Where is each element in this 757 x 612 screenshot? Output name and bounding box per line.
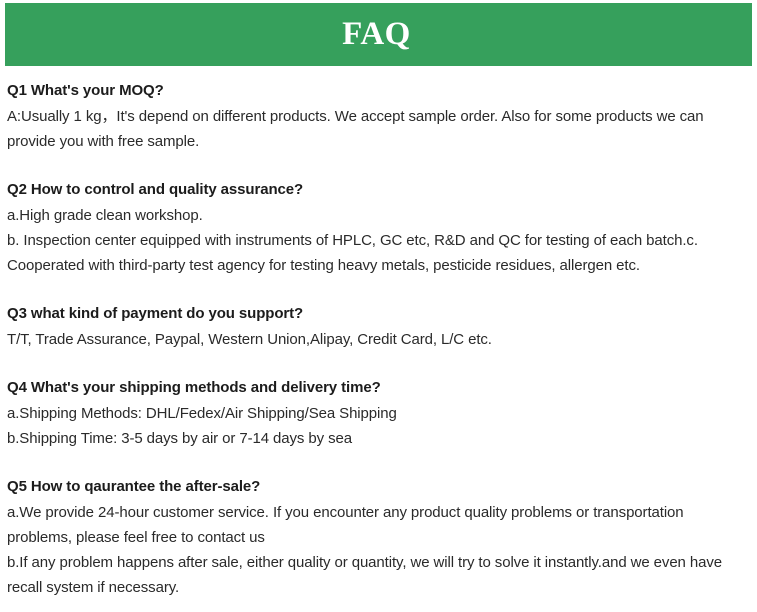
faq-banner: FAQ (5, 3, 752, 66)
faq-question: Q2 How to control and quality assurance? (7, 177, 749, 202)
faq-question: Q3 what kind of payment do you support? (7, 301, 749, 326)
faq-page: FAQ Q1 What's your MOQ? A:Usually 1 kg，I… (0, 0, 757, 612)
faq-item: Q2 How to control and quality assurance?… (7, 177, 749, 278)
faq-answer-line: a.High grade clean workshop. (7, 203, 749, 228)
faq-banner-title: FAQ (342, 18, 411, 51)
faq-answer-line: a.We provide 24-hour customer service. I… (7, 500, 749, 550)
faq-answer-line: a.Shipping Methods: DHL/Fedex/Air Shippi… (7, 401, 749, 426)
faq-answer-line: A:Usually 1 kg，It's depend on different … (7, 104, 749, 154)
faq-list: Q1 What's your MOQ? A:Usually 1 kg，It's … (7, 78, 749, 600)
faq-item: Q3 what kind of payment do you support? … (7, 301, 749, 352)
faq-question: Q5 How to qaurantee the after-sale? (7, 474, 749, 499)
faq-answer-line: b. Inspection center equipped with instr… (7, 228, 749, 278)
faq-question: Q1 What's your MOQ? (7, 78, 749, 103)
faq-item: Q4 What's your shipping methods and deli… (7, 375, 749, 451)
faq-answer-line: T/T, Trade Assurance, Paypal, Western Un… (7, 327, 749, 352)
faq-question: Q4 What's your shipping methods and deli… (7, 375, 749, 400)
faq-answer-line: b.Shipping Time: 3-5 days by air or 7-14… (7, 426, 749, 451)
faq-answer-line: b.If any problem happens after sale, eit… (7, 550, 749, 600)
faq-item: Q5 How to qaurantee the after-sale? a.We… (7, 474, 749, 600)
faq-item: Q1 What's your MOQ? A:Usually 1 kg，It's … (7, 78, 749, 154)
